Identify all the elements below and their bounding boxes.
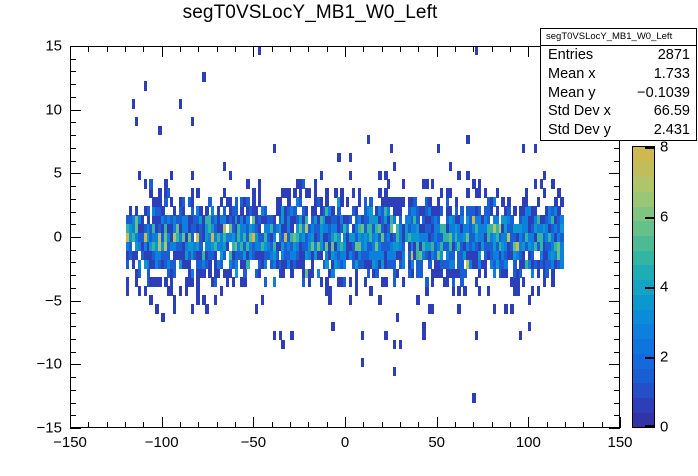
stats-rows: Entries2871Mean x1.733Mean y−0.1039Std D… [541, 46, 696, 140]
x-axis-tick-label: −100 [132, 434, 192, 451]
palette-band [633, 294, 654, 309]
heatmap-cell [390, 144, 393, 153]
y-axis-minor-tick [70, 339, 76, 340]
x-axis-minor-tick [107, 422, 108, 428]
heatmap-cell [560, 215, 563, 224]
heatmap-cells [71, 47, 619, 427]
x-axis-minor-tick [180, 422, 181, 428]
heatmap-cell [534, 179, 537, 188]
x-axis-major-tick-top [70, 46, 71, 57]
y-axis-tick-label: 0 [14, 229, 62, 246]
heatmap-cell [126, 286, 129, 295]
heatmap-cell [525, 188, 528, 197]
palette-tick-label: 2 [660, 349, 668, 366]
x-axis-minor-tick-top [198, 46, 199, 52]
heatmap-cell [419, 260, 422, 269]
heatmap-cell [144, 81, 147, 90]
y-axis-major-tick-right [609, 173, 620, 174]
x-axis-minor-tick-top [308, 46, 309, 52]
heatmap-cell [149, 179, 152, 188]
x-axis-minor-tick [565, 422, 566, 428]
heatmap-cell [560, 224, 563, 233]
x-axis-minor-tick [583, 422, 584, 428]
x-axis-minor-tick [473, 422, 474, 428]
y-axis-major-tick [70, 428, 81, 429]
x-axis-minor-tick-top [418, 46, 419, 52]
palette-tick [645, 147, 655, 149]
heatmap-cell [543, 277, 546, 286]
heatmap-cell [191, 117, 194, 126]
heatmap-cell [507, 197, 510, 206]
palette-band [633, 147, 654, 162]
stats-row-value: −0.1039 [637, 84, 690, 103]
y-axis-minor-tick-right [614, 262, 620, 263]
palette-band [633, 339, 654, 354]
heatmap-cell [378, 171, 381, 180]
heatmap-cell [560, 260, 563, 269]
stats-row-value: 66.59 [654, 102, 690, 121]
palette-tick [645, 357, 655, 359]
y-axis-minor-tick [70, 135, 76, 136]
x-axis-tick-label: 50 [407, 434, 467, 451]
y-axis-minor-tick-right [614, 415, 620, 416]
stats-row: Entries2871 [541, 46, 696, 65]
y-axis-minor-tick-right [614, 288, 620, 289]
x-axis-minor-tick-top [290, 46, 291, 52]
x-axis-minor-tick [272, 422, 273, 428]
x-axis-major-tick [162, 417, 163, 428]
heatmap-cell [475, 331, 478, 340]
heatmap-cell [431, 304, 434, 313]
x-axis-minor-tick-top [455, 46, 456, 52]
heatmap-cell [337, 153, 340, 162]
heatmap-cell [519, 331, 522, 340]
heatmap-cell [393, 277, 396, 286]
y-axis-major-tick-right [609, 364, 620, 365]
y-axis-minor-tick [70, 415, 76, 416]
palette-band [633, 221, 654, 236]
y-axis-minor-tick [70, 212, 76, 213]
x-axis-major-tick-top [528, 46, 529, 57]
stats-row-key: Mean y [548, 84, 596, 103]
x-axis-minor-tick-top [510, 46, 511, 52]
heatmap-cell [138, 260, 141, 269]
heatmap-cell [504, 269, 507, 278]
heatmap-cell [463, 286, 466, 295]
heatmap-cell [281, 340, 284, 349]
y-axis-tick-label: 5 [14, 165, 62, 182]
heatmap-cell [534, 144, 537, 153]
heatmap-cell [305, 206, 308, 215]
x-axis-minor-tick-top [217, 46, 218, 52]
y-axis-major-tick [70, 364, 81, 365]
heatmap-cell [416, 295, 419, 304]
heatmap-cell [202, 269, 205, 278]
x-axis-major-tick [345, 417, 346, 428]
heatmap-cell [402, 197, 405, 206]
y-axis-minor-tick-right [614, 224, 620, 225]
palette-band [633, 162, 654, 177]
root-canvas: segT0VSLocY_MB1_W0_Left 151050−5−10−15−1… [0, 0, 698, 476]
palette-tick [645, 217, 655, 219]
heatmap-cell [402, 179, 405, 188]
heatmap-cell [155, 304, 158, 313]
y-axis-minor-tick-right [614, 186, 620, 187]
heatmap-cell [411, 260, 414, 269]
heatmap-cell [375, 269, 378, 278]
heatmap-cell [358, 188, 361, 197]
x-axis-major-tick-top [162, 46, 163, 57]
y-axis-major-tick-right [609, 237, 620, 238]
heatmap-cell [349, 295, 352, 304]
heatmap-cell [361, 331, 364, 340]
heatmap-cell [369, 197, 372, 206]
palette-tick [645, 425, 655, 427]
heatmap-cell [191, 197, 194, 206]
heatmap-cell [299, 188, 302, 197]
x-axis-tick-label: 150 [590, 434, 650, 451]
heatmap-cell [484, 269, 487, 278]
stats-row-key: Mean x [548, 65, 596, 84]
heatmap-cell [457, 171, 460, 180]
heatmap-cell [551, 269, 554, 278]
heatmap-cell [493, 269, 496, 278]
heatmap-cell [522, 277, 525, 286]
y-axis-major-tick-right [609, 428, 620, 429]
palette-tick [645, 287, 655, 289]
heatmap-cell [349, 171, 352, 180]
heatmap-cell [208, 260, 211, 269]
palette-tick-label: 6 [660, 209, 668, 226]
x-axis-minor-tick [235, 422, 236, 428]
heatmap-cell [466, 188, 469, 197]
y-axis-minor-tick-right [614, 403, 620, 404]
heatmap-cell [158, 277, 161, 286]
x-axis-minor-tick [217, 422, 218, 428]
heatmap-cell [255, 304, 258, 313]
x-axis-minor-tick-top [272, 46, 273, 52]
palette-band [633, 235, 654, 250]
heatmap-cell [170, 277, 173, 286]
heatmap-cell [273, 144, 276, 153]
heatmap-cell [308, 277, 311, 286]
page-title: segT0VSLocY_MB1_W0_Left [0, 2, 620, 24]
heatmap-cell [355, 277, 358, 286]
heatmap-cell [531, 286, 534, 295]
x-axis-minor-tick [400, 422, 401, 428]
x-axis-minor-tick-top [400, 46, 401, 52]
palette-band [633, 191, 654, 206]
heatmap-cell [273, 331, 276, 340]
heatmap-cell [261, 295, 264, 304]
heatmap-cell [384, 277, 387, 286]
heatmap-cell [173, 269, 176, 278]
heatmap-cell [243, 269, 246, 278]
y-axis-minor-tick [70, 250, 76, 251]
heatmap-cell [246, 179, 249, 188]
heatmap-cell [378, 295, 381, 304]
heatmap-cell [446, 277, 449, 286]
x-axis-minor-tick [363, 422, 364, 428]
y-axis-minor-tick [70, 288, 76, 289]
y-axis-minor-tick [70, 97, 76, 98]
y-axis-tick-label: 10 [14, 101, 62, 118]
heatmap-cell [384, 331, 387, 340]
y-axis-minor-tick [70, 262, 76, 263]
heatmap-cell [191, 171, 194, 180]
x-axis-minor-tick [510, 422, 511, 428]
y-axis-minor-tick-right [614, 339, 620, 340]
y-axis-tick-label: 15 [14, 38, 62, 55]
heatmap-cell [196, 277, 199, 286]
heatmap-cell [369, 286, 372, 295]
y-axis-minor-tick-right [614, 377, 620, 378]
heatmap-cell [290, 269, 293, 278]
heatmap-cell [560, 233, 563, 242]
heatmap-cell [179, 99, 182, 108]
y-axis-minor-tick [70, 390, 76, 391]
heatmap-cell [290, 331, 293, 340]
heatmap-cell [205, 304, 208, 313]
x-axis-major-tick [437, 417, 438, 428]
heatmap-cell [235, 269, 238, 278]
y-axis-minor-tick [70, 199, 76, 200]
heatmap-cell [522, 144, 525, 153]
y-axis-minor-tick [70, 275, 76, 276]
palette-tick-label: 4 [660, 279, 668, 296]
heatmap-cell [340, 197, 343, 206]
heatmap-cell [513, 206, 516, 215]
heatmap-cell [551, 277, 554, 286]
x-axis-minor-tick [547, 422, 548, 428]
heatmap-cell [173, 295, 176, 304]
heatmap-cell [537, 286, 540, 295]
heatmap-cell [425, 277, 428, 286]
x-axis-minor-tick [308, 422, 309, 428]
palette-band [633, 383, 654, 398]
heatmap-cell [252, 188, 255, 197]
heatmap-cell [437, 144, 440, 153]
heatmap-cell [493, 304, 496, 313]
heatmap-cell [419, 269, 422, 278]
x-axis-minor-tick [88, 422, 89, 428]
heatmap-cell [431, 277, 434, 286]
heatmap-cell [223, 162, 226, 171]
heatmap-cell [457, 286, 460, 295]
heatmap-cell [367, 135, 370, 144]
heatmap-cell [431, 179, 434, 188]
stats-row: Mean y−0.1039 [541, 84, 696, 103]
y-axis-minor-tick-right [614, 352, 620, 353]
heatmap-cell [331, 322, 334, 331]
palette-tick-label: 8 [660, 139, 668, 156]
y-axis-minor-tick-right [614, 313, 620, 314]
stats-row-key: Std Dev y [548, 121, 611, 140]
heatmap-cell [440, 206, 443, 215]
heatmap-cell [496, 206, 499, 215]
heatmap-cell [402, 242, 405, 251]
heatmap-cell [311, 260, 314, 269]
heatmap-cell [349, 153, 352, 162]
plot-frame [70, 46, 620, 428]
x-axis-minor-tick [143, 422, 144, 428]
stats-row-key: Entries [548, 46, 593, 65]
x-axis-minor-tick-top [363, 46, 364, 52]
heatmap-cell [214, 295, 217, 304]
heatmap-cell [243, 277, 246, 286]
heatmap-cell [273, 277, 276, 286]
y-axis-minor-tick-right [614, 212, 620, 213]
heatmap-cell [328, 286, 331, 295]
heatmap-cell [320, 171, 323, 180]
heatmap-cell [358, 197, 361, 206]
heatmap-cell [478, 179, 481, 188]
x-axis-major-tick [620, 417, 621, 428]
heatmap-cell [496, 188, 499, 197]
x-axis-minor-tick [125, 422, 126, 428]
heatmap-cell [226, 277, 229, 286]
heatmap-cell [217, 269, 220, 278]
y-axis-major-tick [70, 237, 81, 238]
heatmap-cell [484, 260, 487, 269]
heatmap-cell [402, 277, 405, 286]
x-axis-tick-label: −150 [40, 434, 100, 451]
heatmap-cell [364, 277, 367, 286]
heatmap-cell [223, 251, 226, 260]
heatmap-cell [202, 72, 205, 81]
y-axis-minor-tick [70, 403, 76, 404]
y-axis-minor-tick [70, 161, 76, 162]
heatmap-cell [425, 286, 428, 295]
heatmap-cell [144, 179, 147, 188]
heatmap-cell [138, 286, 141, 295]
heatmap-cell [560, 197, 563, 206]
heatmap-cell [545, 269, 548, 278]
y-axis-minor-tick-right [614, 250, 620, 251]
heatmap-cell [331, 269, 334, 278]
heatmap-cell [191, 188, 194, 197]
heatmap-cell [504, 304, 507, 313]
heatmap-cell [343, 277, 346, 286]
heatmap-cell [258, 179, 261, 188]
heatmap-cell [537, 269, 540, 278]
heatmap-cell [340, 188, 343, 197]
heatmap-cell [460, 206, 463, 215]
x-axis-minor-tick-top [382, 46, 383, 52]
x-axis-minor-tick [455, 422, 456, 428]
y-axis-minor-tick [70, 377, 76, 378]
heatmap-cell [466, 171, 469, 180]
heatmap-cell [173, 304, 176, 313]
x-axis-minor-tick-top [88, 46, 89, 52]
heatmap-cell [149, 295, 152, 304]
heatmap-cell [135, 117, 138, 126]
heatmap-cell [543, 188, 546, 197]
x-axis-minor-tick-top [125, 46, 126, 52]
heatmap-cell [355, 286, 358, 295]
heatmap-cell [487, 286, 490, 295]
heatmap-cell [229, 171, 232, 180]
y-axis-minor-tick [70, 352, 76, 353]
heatmap-cell [214, 277, 217, 286]
heatmap-cell [191, 277, 194, 286]
heatmap-cell [455, 197, 458, 206]
heatmap-cell [173, 260, 176, 269]
heatmap-cell [258, 188, 261, 197]
y-axis-minor-tick-right [614, 275, 620, 276]
heatmap-cell [138, 269, 141, 278]
palette-band [633, 309, 654, 324]
heatmap-cell [560, 251, 563, 260]
heatmap-cell [393, 367, 396, 376]
heatmap-cell [314, 179, 317, 188]
heatmap-cell [179, 286, 182, 295]
heatmap-cell [161, 313, 164, 322]
heatmap-cell [466, 135, 469, 144]
heatmap-cell [308, 188, 311, 197]
heatmap-cell [396, 313, 399, 322]
heatmap-cell [264, 277, 267, 286]
y-axis-minor-tick-right [614, 148, 620, 149]
heatmap-cell [393, 162, 396, 171]
heatmap-cell [258, 269, 261, 278]
heatmap-cell [287, 188, 290, 197]
heatmap-cell [449, 162, 452, 171]
heatmap-cell [191, 304, 194, 313]
heatmap-cell [320, 277, 323, 286]
heatmap-cell [399, 340, 402, 349]
x-axis-tick-label: 100 [498, 434, 558, 451]
y-axis-minor-tick [70, 148, 76, 149]
y-axis-major-tick [70, 46, 81, 47]
stats-row: Std Dev x66.59 [541, 102, 696, 121]
palette-band [633, 250, 654, 265]
heatmap-cell [182, 197, 185, 206]
y-axis-major-tick [70, 301, 81, 302]
heatmap-cell [422, 322, 425, 331]
heatmap-cell [246, 260, 249, 269]
palette-band [633, 324, 654, 339]
stats-row: Std Dev y2.431 [541, 121, 696, 140]
y-axis-minor-tick [70, 326, 76, 327]
x-axis-minor-tick-top [143, 46, 144, 52]
x-axis-tick-label: 0 [315, 434, 375, 451]
heatmap-cell [516, 286, 519, 295]
heatmap-cell [504, 260, 507, 269]
heatmap-cell [281, 269, 284, 278]
palette-band [633, 353, 654, 368]
stats-row-key: Std Dev x [548, 102, 611, 121]
heatmap-cell [399, 206, 402, 215]
heatmap-cell [196, 188, 199, 197]
palette-band [633, 398, 654, 413]
x-axis-major-tick [70, 417, 71, 428]
x-axis-minor-tick-top [235, 46, 236, 52]
heatmap-cell [132, 99, 135, 108]
stats-row-value: 2.431 [654, 121, 690, 140]
heatmap-cell [164, 197, 167, 206]
heatmap-cell [472, 393, 475, 402]
x-axis-tick-label: −50 [223, 434, 283, 451]
x-axis-minor-tick-top [107, 46, 108, 52]
heatmap-cell [126, 277, 129, 286]
y-axis-major-tick-right [609, 301, 620, 302]
heatmap-cell [144, 286, 147, 295]
heatmap-cell [422, 331, 425, 340]
heatmap-cell [185, 286, 188, 295]
palette-band [633, 368, 654, 383]
heatmap-cell [510, 304, 513, 313]
